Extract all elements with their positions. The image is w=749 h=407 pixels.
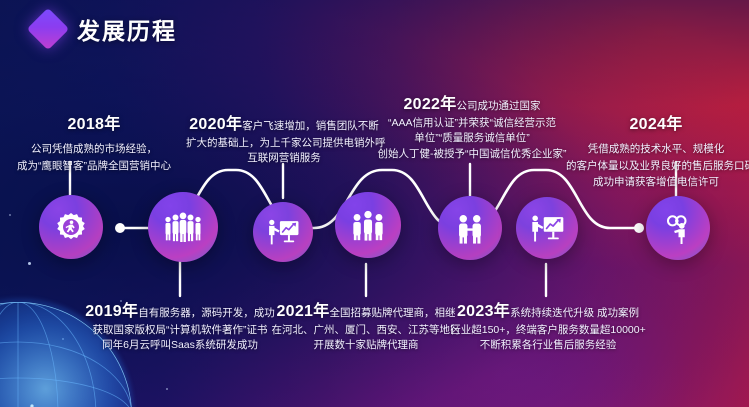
entry-line: 2018年公司凭借成熟的市场经验， [6,113,182,159]
timeline-node-2020[interactable] [253,202,313,262]
slide-header: 发展历程 [33,12,177,46]
star-dot [9,214,11,216]
timeline-node-2019[interactable] [148,192,218,262]
timeline-entry-2023: 2023年系统持续迭代升级 成功案例 行业超150+，终端客户服务数量超1000… [446,300,650,354]
timeline-node-2021[interactable] [335,192,401,258]
page-title: 发展历程 [77,12,177,46]
entry-line: 2022年公司成功通过国家 [374,93,570,116]
entry-line: 2023年系统持续迭代升级 成功案例 [446,300,650,323]
person-binoculars-icon [661,212,695,244]
slide-canvas: 发展历程 [0,0,749,407]
timeline-entry-2018: 2018年公司凭借成熟的市场经验， 成为“鹰眼智客”品牌全国营销中心 [6,113,182,175]
two-people-handshake-icon [453,212,487,244]
timeline-entry-2020: 2020年客户飞速增加，销售团队不断 扩大的基础上，为上千家公司提供电销外呼 互… [186,113,382,167]
entry-text: “AAA信用认证”并荣获“诚信经营示范 [374,116,570,131]
entry-year: 2021年 [276,303,329,320]
presenter-screen-icon [529,213,565,244]
entry-text: 行业超150+，终端客户服务数量超10000+ [446,323,650,338]
entry-text: 同年6月云呼叫Saas系统研发成功 [78,338,282,353]
person-in-gear-icon [54,210,88,244]
timeline-entry-2022: 2022年公司成功通过国家 “AAA信用认证”并荣获“诚信经营示范 单位”“质量… [374,93,570,162]
entry-text: 创始人丁健-被授予“中国诚信优秀企业家” [374,147,570,162]
people-group-icon [163,210,203,244]
entry-text: 扩大的基础上，为上千家公司提供电销外呼 [186,136,382,151]
entry-text: 成功申请获客增值电信许可 [566,175,746,190]
entry-text: 成为“鹰眼智客”品牌全国营销中心 [6,159,182,174]
entry-text: 互联网营销服务 [186,151,382,166]
entry-year: 2022年 [403,96,456,113]
entry-year: 2024年 [629,116,682,133]
star-dot [28,262,31,265]
timeline-entry-2024: 2024年凭借成熟的技术水平、规模化 的客户体量以及业界良好的售后服务口碑 成功… [566,113,746,190]
timeline-node-2023[interactable] [516,197,578,259]
entry-text: 系统持续迭代升级 成功案例 [510,307,639,319]
timeline-entry-2019: 2019年自有服务器，源码开发，成功 获取国家版权局“计算机软件著作”证书 同年… [78,300,282,354]
entry-text: 在河北、广州、厦门、西安、江苏等地区 [268,323,464,338]
entry-year: 2020年 [189,116,242,133]
entry-line: 2021年全国招募贴牌代理商，相继 [268,300,464,323]
three-people-icon [349,209,387,241]
entry-year: 2018年 [67,116,120,133]
entry-text: 的客户体量以及业界良好的售后服务口碑 [566,159,746,174]
entry-text: 单位”“质量服务诚信单位” [374,131,570,146]
timeline-node-2024[interactable] [646,196,710,260]
entry-text: 客户飞速增加，销售团队不断 [242,120,379,132]
timeline-node-2018[interactable] [39,195,103,259]
diamond-icon [27,8,69,50]
entry-text: 自有服务器，源码开发，成功 [138,307,275,319]
entry-year: 2023年 [457,303,510,320]
entry-line: 2020年客户飞速增加，销售团队不断 [186,113,382,136]
entry-text: 全国招募贴牌代理商，相继 [330,307,456,319]
presenter-chart-icon [266,217,300,247]
entry-text: 不断积累各行业售后服务经验 [446,338,650,353]
entry-text: 凭借成熟的技术水平、规模化 [588,143,725,155]
entry-year: 2019年 [85,303,138,320]
entry-text: 获取国家版权局“计算机软件著作”证书 [78,323,282,338]
entry-text: 公司凭借成熟的市场经验， [31,143,157,155]
entry-line: 2019年自有服务器，源码开发，成功 [78,300,282,323]
timeline-node-2022[interactable] [438,196,502,260]
entry-line: 2024年凭借成熟的技术水平、规模化 [566,113,746,159]
entry-text: 公司成功通过国家 [457,100,541,112]
timeline-entry-2021: 2021年全国招募贴牌代理商，相继 在河北、广州、厦门、西安、江苏等地区 开展数… [268,300,464,354]
entry-text: 开展数十家贴牌代理商 [268,338,464,353]
